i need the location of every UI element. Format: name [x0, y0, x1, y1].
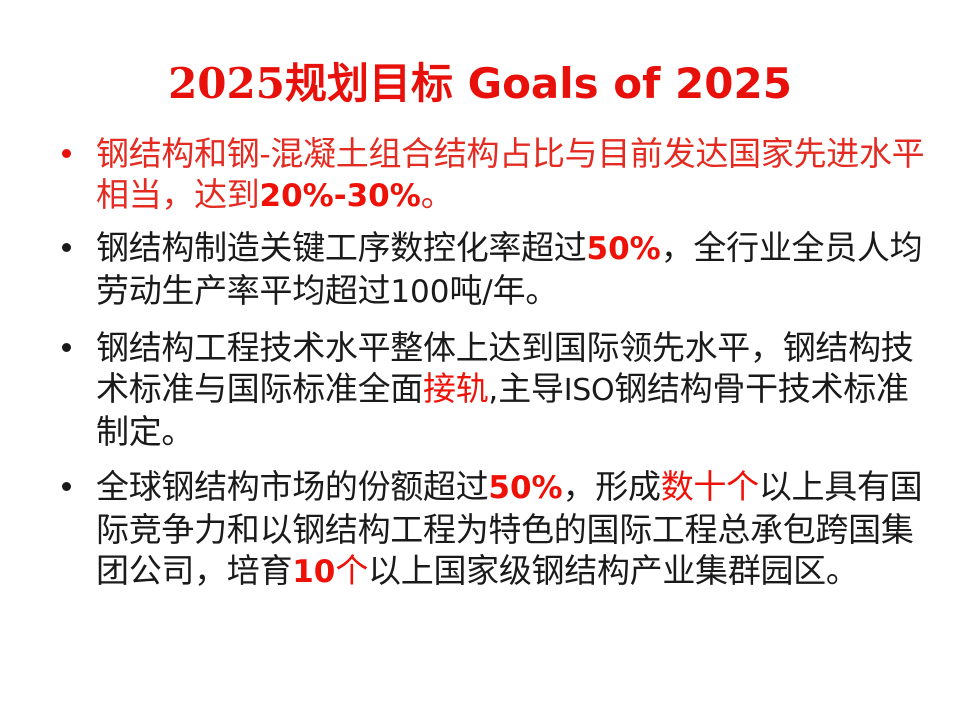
bullet-marker-icon	[62, 149, 71, 158]
bullet-run: 钢结构工程技术水平整体上达到国际领先水平，	[96, 328, 783, 367]
bullet-highlight-text: 数十个	[661, 467, 759, 506]
list-item: 钢结构和钢-混凝土组合结构占比与目前发达国家先进水平相当，达到20%-30%。	[52, 133, 932, 217]
bullet-run: 主导	[498, 369, 563, 408]
bullet-highlight-number: 50%	[488, 470, 562, 506]
bullet-highlight-number: 20%-30%	[260, 178, 421, 214]
bullet-run: 吨	[449, 271, 482, 310]
slide-title-latin: Goals of 2025	[453, 59, 792, 108]
bullet-run: 钢结构和钢-混凝土组合结构占比与目前发达	[96, 134, 728, 173]
list-item: 全球钢结构市场的份额超过50%，形成数十个以上具有国际竞争力和以钢结构工程为特色…	[52, 466, 932, 593]
bullet-run: ，形成	[563, 467, 661, 506]
bullet-run: 全球钢结构市场的份额超过	[96, 467, 488, 506]
slide-title: 2025规划目标 Goals of 2025	[0, 58, 960, 110]
bullet-run: 钢结构制造关键工序数控化率超过	[96, 228, 587, 267]
bullet-run: 年。	[493, 271, 558, 310]
bullet-separator: /	[482, 274, 492, 310]
bullet-list: 钢结构和钢-混凝土组合结构占比与目前发达国家先进水平相当，达到20%-30%。 …	[52, 133, 932, 593]
list-item: 钢结构工程技术水平整体上达到国际领先水平，钢结构技术标准与国际标准全面接轨,主导…	[52, 327, 932, 452]
bullet-highlight-text: 接轨	[423, 369, 488, 408]
bullet-highlight-number: 10	[292, 554, 335, 590]
bullet-highlight-text: 个	[335, 551, 368, 590]
bullet-marker-icon	[62, 482, 71, 491]
bullet-number: 100	[390, 274, 449, 310]
list-item: 钢结构制造关键工序数控化率超过50%，全行业全员人均劳动生产率平均超过100吨/…	[52, 227, 932, 313]
slide-canvas: 2025规划目标 Goals of 2025 钢结构和钢-混凝土组合结构占比与目…	[0, 0, 960, 720]
bullet-latin-term: ISO	[564, 373, 615, 408]
bullet-run: 。	[421, 175, 454, 214]
bullet-run: 以上	[368, 551, 433, 590]
bullet-highlight-number: 50%	[587, 231, 661, 267]
bullet-marker-icon	[62, 343, 71, 352]
bullet-marker-icon	[62, 243, 71, 252]
bullet-separator: ,	[488, 372, 498, 408]
slide-title-cjk: 2025规划目标	[168, 59, 453, 108]
bullet-run: 国家级钢结构产业集群园区。	[433, 551, 858, 590]
